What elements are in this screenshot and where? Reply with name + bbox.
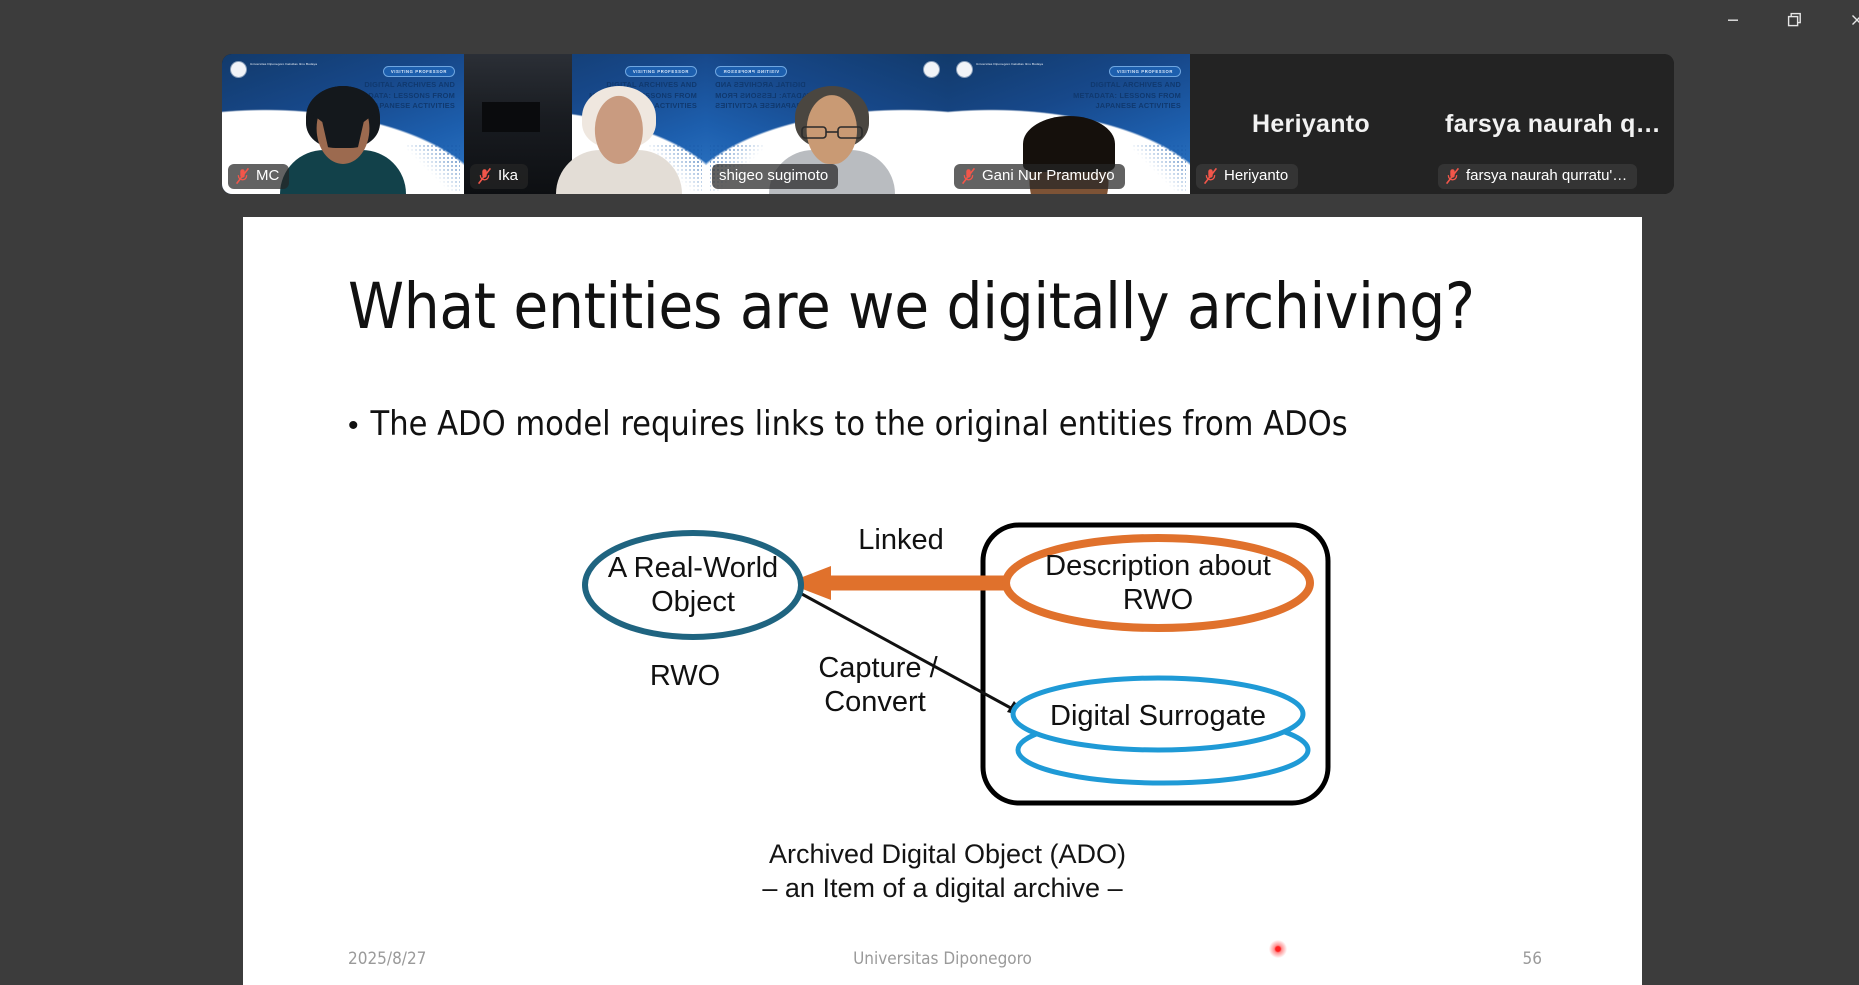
participant-name: shigeo sugimoto (719, 167, 828, 185)
participant-name: Ika (498, 167, 518, 185)
participant-name-badge: MC (228, 164, 289, 189)
participant-name: farsya naurah qurratu'… (1466, 167, 1627, 185)
footer-page-number: 56 (1523, 949, 1542, 969)
participant-name-badge: shigeo sugimoto (712, 164, 838, 189)
minimize-icon (1725, 12, 1741, 28)
university-logo-icon (231, 62, 246, 77)
footer-organization: Universitas Diponegoro (243, 949, 1642, 969)
capture-convert-label-line2: Convert (824, 686, 926, 718)
close-button[interactable] (1826, 0, 1859, 40)
participant-tile-farsya-naurah[interactable]: farsya naurah q… farsya naurah qurratu'… (1432, 54, 1674, 194)
participant-name-badge: Ika (470, 164, 528, 189)
description-label-line1: Description about (1045, 550, 1271, 582)
slide-bullet-text: The ADO model requires links to the orig… (371, 402, 1348, 447)
participant-name: Gani Nur Pramudyo (982, 167, 1115, 185)
restore-icon (1786, 11, 1804, 29)
participant-tile-heriyanto[interactable]: Heriyanto Heriyanto (1190, 54, 1432, 194)
rwo-label-line1: A Real-World (608, 552, 778, 584)
decorative-dot-pattern (1132, 144, 1186, 192)
bullet-marker-icon: • (348, 402, 359, 450)
slide-bullet: • The ADO model requires links to the or… (348, 402, 1548, 450)
participant-display-name: farsya naurah q… (1433, 110, 1673, 139)
rwo-ellipse (585, 533, 801, 637)
virtual-background-institution: Universitas Diponegoro Fakultas Ilmu Bud… (250, 62, 324, 67)
close-icon (1849, 12, 1859, 28)
virtual-background-badge: VISITING PROFESSOR (383, 66, 455, 77)
participant-name-badge: Heriyanto (1196, 164, 1298, 189)
university-logo-icon (924, 62, 939, 77)
participant-tile-shigeo-sugimoto[interactable]: VISITING PROFESSOR DIGITAL ARCHIVES AND … (706, 54, 948, 194)
participant-name-badge: Gani Nur Pramudyo (954, 164, 1125, 189)
refer-linked-label-line1: Refer / (859, 517, 947, 522)
participant-name: Heriyanto (1224, 167, 1288, 185)
virtual-background-badge: VISITING PROFESSOR (1109, 66, 1181, 77)
rwo-label-line2: Object (651, 586, 735, 618)
window-titlebar (0, 0, 1859, 46)
university-logo-icon (957, 62, 972, 77)
shared-slide[interactable]: What entities are we digitally archiving… (243, 217, 1642, 985)
mic-muted-icon (235, 167, 250, 185)
refer-linked-label-line2: Linked (858, 524, 943, 556)
diagram-caption: Archived Digital Object (ADO) – an Item … (243, 837, 1642, 905)
rwo-abbrev-label: RWO (650, 660, 720, 692)
slide-footer: 2025/8/27 Universitas Diponegoro 56 (243, 949, 1642, 971)
decorative-dot-pattern (406, 144, 460, 192)
slide-title: What entities are we digitally archiving… (348, 272, 1578, 342)
virtual-background-badge: VISITING PROFESSOR (715, 66, 787, 77)
participant-filmstrip[interactable]: Universitas Diponegoro Fakultas Ilmu Bud… (222, 54, 1674, 194)
participant-tile-gani-nur-pramudyo[interactable]: Universitas Diponegoro Fakultas Ilmu Bud… (948, 54, 1190, 194)
caption-line-1: Archived Digital Object (ADO) (253, 837, 1642, 871)
participant-display-name: Heriyanto (1240, 110, 1382, 139)
participant-video-figure (555, 90, 683, 194)
capture-convert-label-line1: Capture / (818, 652, 938, 684)
participant-video-figure (279, 90, 407, 194)
participant-tile-mc[interactable]: Universitas Diponegoro Fakultas Ilmu Bud… (222, 54, 464, 194)
virtual-background-title: DIGITAL ARCHIVES AND METADATA: LESSONS F… (1051, 80, 1181, 112)
virtual-background-badge: VISITING PROFESSOR (625, 66, 697, 77)
glasses-icon (800, 124, 864, 140)
mic-muted-icon (1445, 167, 1460, 185)
minimize-button[interactable] (1702, 0, 1764, 40)
participant-name-badge: farsya naurah qurratu'… (1438, 164, 1637, 189)
digital-surrogate-label: Digital Surrogate (1050, 700, 1266, 732)
virtual-background-institution: Universitas Diponegoro Fakultas Ilmu Bud… (976, 62, 1050, 67)
participant-tile-ika[interactable]: VISITING PROFESSOR DIGITAL ARCHIVES AND … (464, 54, 706, 194)
restore-button[interactable] (1764, 0, 1826, 40)
mic-muted-icon (961, 167, 976, 185)
caption-line-2: – an Item of a digital archive – (243, 871, 1642, 905)
participant-name: MC (256, 167, 279, 185)
mic-muted-icon (1203, 167, 1218, 185)
mic-muted-icon (477, 167, 492, 185)
description-label-line2: RWO (1123, 584, 1193, 616)
